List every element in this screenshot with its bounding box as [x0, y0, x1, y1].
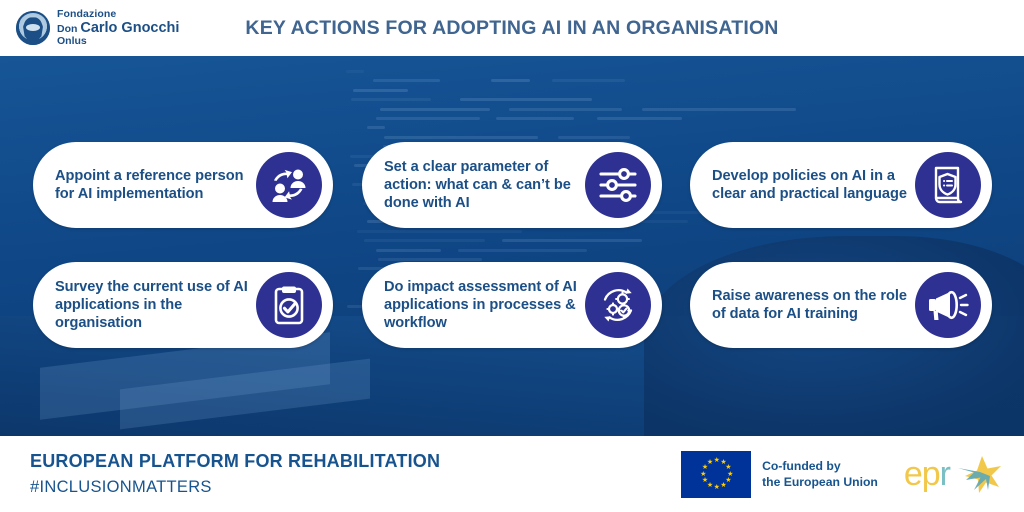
footer-organisation-name: EUROPEAN PLATFORM FOR REHABILITATION: [30, 451, 440, 472]
action-card-4[interactable]: Survey the current use of AI application…: [33, 262, 333, 348]
action-card-5-label: Do impact assessment of AI applications …: [362, 278, 585, 332]
eu-star: ★: [700, 472, 705, 477]
eu-caption: Co-funded by the European Union: [762, 458, 878, 490]
epr-word-r: r: [940, 455, 950, 493]
header-bar: Fondazione Don Carlo Gnocchi Onlus KEY A…: [0, 0, 1024, 56]
people-exchange-icon: [256, 152, 322, 218]
eu-star: ★: [714, 485, 719, 490]
eu-star: ★: [727, 472, 732, 477]
action-card-5[interactable]: Do impact assessment of AI applications …: [362, 262, 662, 348]
action-card-1[interactable]: Appoint a reference person for AI implem…: [33, 142, 333, 228]
footer-text-block: EUROPEAN PLATFORM FOR REHABILITATION #IN…: [30, 451, 440, 497]
eu-caption-line-1: Co-funded by: [762, 458, 878, 474]
eu-star: ★: [702, 478, 707, 483]
document-shield-icon: [915, 152, 981, 218]
gears-cycle-icon: [585, 272, 651, 338]
page-title: KEY ACTIONS FOR ADOPTING AI IN AN ORGANI…: [0, 0, 1024, 56]
cards-grid: Appoint a reference person for AI implem…: [0, 56, 1024, 436]
action-card-2-label: Set a clear parameter of action: what ca…: [362, 158, 585, 212]
clipboard-check-icon: [256, 272, 322, 338]
eu-star: ★: [707, 460, 712, 465]
eu-star: ★: [725, 465, 730, 470]
epr-logo: epr: [904, 452, 1010, 496]
infographic-canvas: Fondazione Don Carlo Gnocchi Onlus KEY A…: [0, 0, 1024, 512]
action-card-4-label: Survey the current use of AI application…: [33, 278, 256, 332]
action-card-1-label: Appoint a reference person for AI implem…: [33, 167, 256, 203]
action-card-2[interactable]: Set a clear parameter of action: what ca…: [362, 142, 662, 228]
eu-cofunding-lockup: ★★★★★★★★★★★★ Co-funded by the European U…: [681, 451, 878, 498]
footer-logos: ★★★★★★★★★★★★ Co-funded by the European U…: [681, 436, 1010, 512]
footer-hashtag: #INCLUSIONMATTERS: [30, 478, 440, 497]
eu-star: ★: [720, 483, 725, 488]
action-card-6-label: Raise awareness on the role of data for …: [690, 287, 915, 323]
eu-star: ★: [714, 458, 719, 463]
eu-caption-line-2: the European Union: [762, 474, 878, 490]
sliders-icon: [585, 152, 651, 218]
epr-word-ep: ep: [904, 455, 940, 493]
action-card-6[interactable]: Raise awareness on the role of data for …: [690, 262, 992, 348]
eu-flag-icon: ★★★★★★★★★★★★: [681, 451, 751, 498]
megaphone-icon: [915, 272, 981, 338]
action-card-3-label: Develop policies on AI in a clear and pr…: [690, 167, 915, 203]
epr-wordmark: epr: [904, 457, 950, 491]
footer-bar: EUROPEAN PLATFORM FOR REHABILITATION #IN…: [0, 436, 1024, 512]
epr-star-icon: [952, 452, 1010, 496]
action-card-3[interactable]: Develop policies on AI in a clear and pr…: [690, 142, 992, 228]
